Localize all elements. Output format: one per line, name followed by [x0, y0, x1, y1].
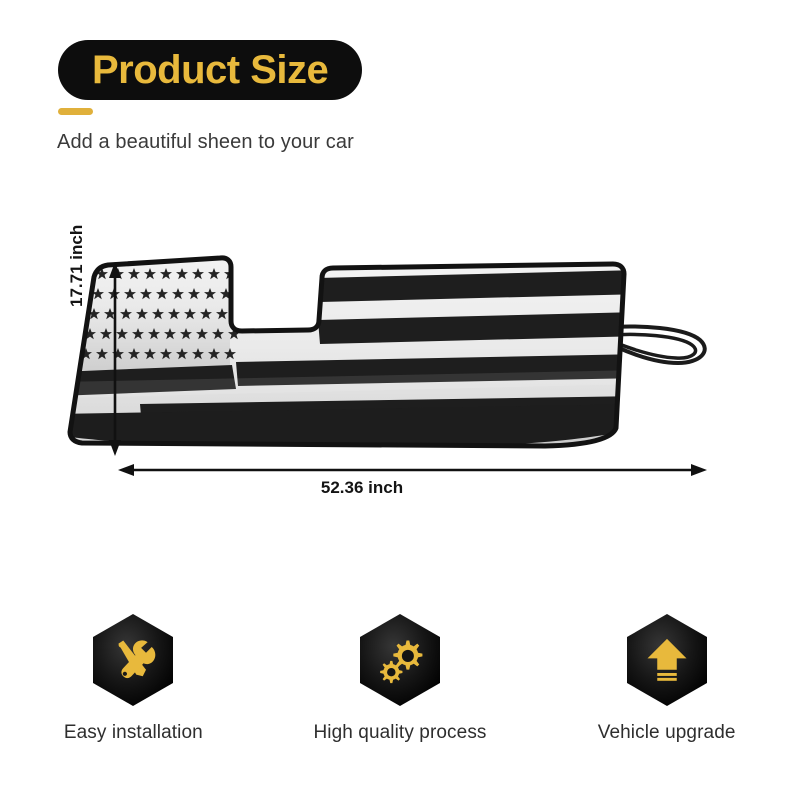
feature-label: Vehicle upgrade [598, 722, 736, 744]
page-title-pill: Product Size [58, 40, 362, 100]
hex-badge [356, 612, 444, 708]
dimension-arrow-width [118, 464, 707, 476]
feature-vehicle-upgrade: Vehicle upgrade [542, 612, 792, 744]
feature-high-quality-process: High quality process [275, 612, 525, 744]
page-subtitle: Add a beautiful sheen to your car [57, 131, 354, 154]
product-figure [0, 232, 800, 512]
gears-icon [374, 634, 426, 686]
product-size-infographic: Product Size Add a beautiful sheen to yo… [0, 0, 800, 800]
hex-badge [89, 612, 177, 708]
feature-easy-installation: Easy installation [8, 612, 258, 744]
up-arrow-icon [641, 634, 693, 686]
accent-dash [58, 108, 93, 115]
width-dimension-label: 52.36 inch [0, 478, 800, 498]
feature-label: Easy installation [64, 722, 203, 744]
feature-label: High quality process [313, 722, 486, 744]
feature-badges: Easy installation [0, 612, 800, 772]
height-dimension-label: 17.71 inch [67, 225, 87, 307]
sunshade-body [55, 252, 660, 462]
page-title: Product Size [92, 50, 328, 90]
wrench-screwdriver-icon [107, 634, 159, 686]
hex-badge [623, 612, 711, 708]
